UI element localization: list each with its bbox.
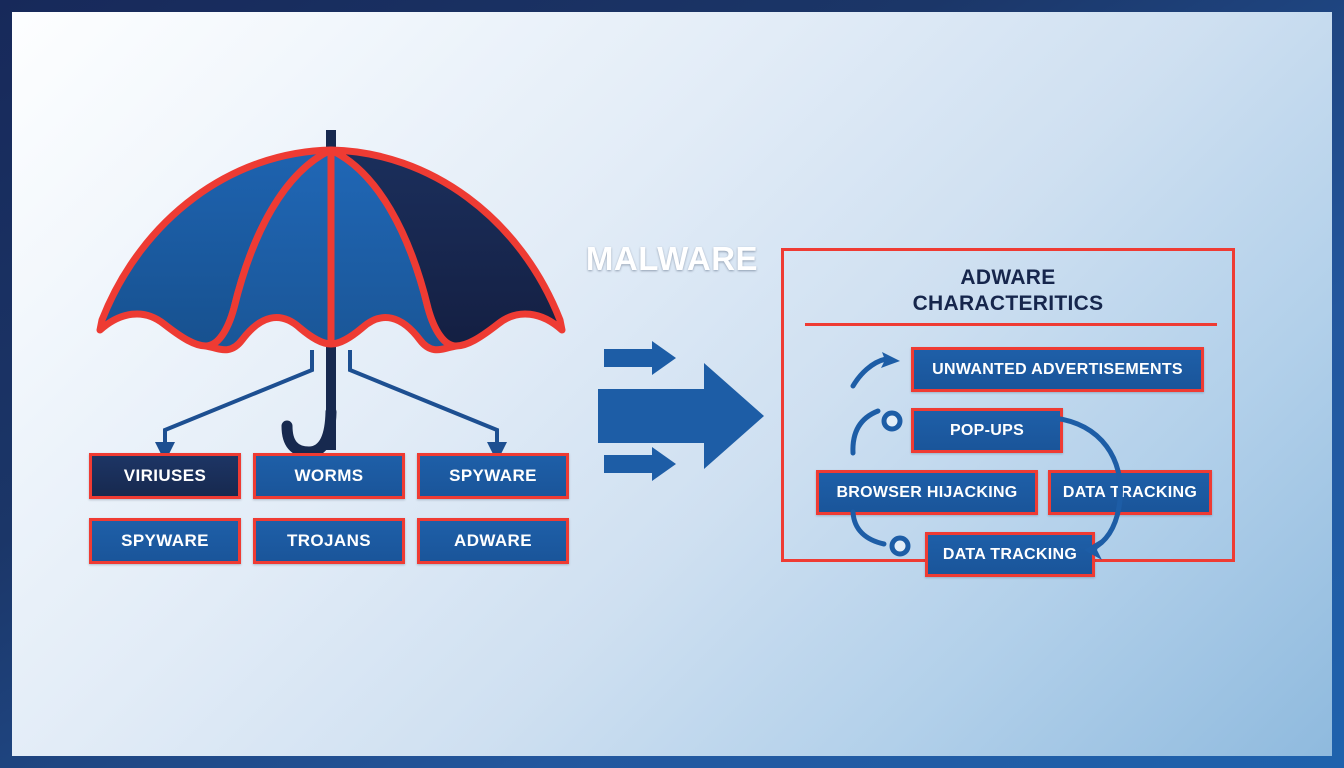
curve-to-unwanted-ads	[853, 359, 886, 386]
flow-node-dot-data-tracking	[892, 538, 908, 554]
infographic-canvas: MALWARE VIRIUSES WORMS SPYWARE SPYWARE T…	[12, 12, 1332, 756]
curve-hijacking-to-data-tracking	[853, 512, 884, 544]
arrowhead-bottom-data-tracking	[1084, 539, 1102, 560]
panel-flow-arrows	[12, 12, 1332, 756]
flow-node-dot-popups	[884, 413, 900, 429]
curve-popups-to-hijacking	[853, 411, 878, 453]
infographic-frame: MALWARE VIRIUSES WORMS SPYWARE SPYWARE T…	[0, 0, 1344, 768]
curve-popups-to-bottom-data-tracking	[1054, 418, 1120, 549]
